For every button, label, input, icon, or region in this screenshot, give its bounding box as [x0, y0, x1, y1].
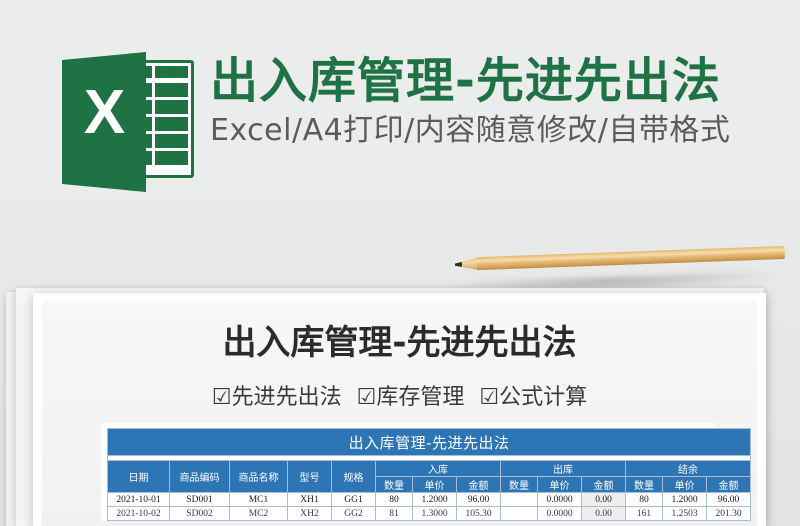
excel-card-shape: X [62, 52, 146, 192]
banner-content: X 出入库管理-先进先出法 Excel/A4打印/内容随意修改/自带格式 [62, 52, 730, 192]
col-group-header-outbound[interactable]: 出库 [501, 461, 626, 477]
document-feature-list: ☑先进先出法 ☑库存管理 ☑公式计算 [33, 379, 766, 411]
cell-out-qty[interactable] [501, 493, 538, 507]
cell-out-amount[interactable]: 0.00 [582, 493, 626, 507]
col-header-out-price[interactable]: 单价 [538, 477, 582, 493]
cell-in-price[interactable]: 1.3000 [413, 507, 457, 521]
cell-date[interactable]: 2021-10-01 [108, 493, 170, 507]
excel-logo-letter: X [62, 82, 146, 144]
table-banner-title: 出入库管理-先进先出法 [108, 429, 751, 456]
paper-sheet-front: 出入库管理-先进先出法 ☑先进先出法 ☑库存管理 ☑公式计算 出入库管理-先进先… [33, 293, 766, 526]
table-group-header-row: 日期 商品编码 商品名称 型号 规格 入库 出库 结余 [108, 461, 751, 477]
cell-name[interactable]: MC1 [230, 493, 288, 507]
col-header-model[interactable]: 型号 [288, 461, 332, 493]
cell-bal-amount[interactable]: 201.30 [707, 507, 751, 521]
cell-in-amount[interactable]: 105.30 [457, 507, 501, 521]
cell-date[interactable]: 2021-10-02 [108, 507, 170, 521]
promo-banner: X 出入库管理-先进先出法 Excel/A4打印/内容随意修改/自带格式 [0, 0, 800, 200]
banner-subtitle: Excel/A4打印/内容随意修改/自带格式 [210, 111, 730, 150]
cell-code[interactable]: SD002 [170, 507, 230, 521]
cell-model[interactable]: XH2 [288, 507, 332, 521]
col-header-bal-qty[interactable]: 数量 [626, 477, 663, 493]
cell-bal-price[interactable]: 1.2503 [663, 507, 707, 521]
cell-bal-price[interactable]: 1.2000 [663, 493, 707, 507]
cell-bal-qty[interactable]: 161 [626, 507, 663, 521]
col-header-out-qty[interactable]: 数量 [501, 477, 538, 493]
table-banner-row: 出入库管理-先进先出法 [108, 429, 751, 456]
col-group-header-balance[interactable]: 结余 [626, 461, 751, 477]
col-header-date[interactable]: 日期 [108, 461, 170, 493]
cell-in-qty[interactable]: 80 [376, 493, 413, 507]
cell-in-qty[interactable]: 81 [376, 507, 413, 521]
cell-bal-qty[interactable]: 80 [626, 493, 663, 507]
document-title: 出入库管理-先进先出法 [33, 315, 766, 364]
col-header-bal-amount[interactable]: 金额 [707, 477, 751, 493]
banner-text-block: 出入库管理-先进先出法 Excel/A4打印/内容随意修改/自带格式 [210, 52, 730, 150]
col-header-in-price[interactable]: 单价 [413, 477, 457, 493]
table-row[interactable]: 2021-10-02 SD002 MC2 XH2 GG2 81 1.3000 1… [108, 507, 751, 521]
cell-spec[interactable]: GG1 [332, 493, 376, 507]
col-header-spec[interactable]: 规格 [332, 461, 376, 493]
col-header-code[interactable]: 商品编码 [170, 461, 230, 493]
table-row[interactable]: 2021-10-01 SD001 MC1 XH1 GG1 80 1.2000 9… [108, 493, 751, 507]
cell-bal-amount[interactable]: 96.00 [707, 493, 751, 507]
feature-item-formula: ☑公式计算 [479, 385, 587, 410]
inventory-table[interactable]: 出入库管理-先进先出法 日期 商品编码 商品名称 型号 规格 入库 出库 结余 … [107, 428, 751, 521]
feature-item-fifo: ☑先进先出法 [212, 385, 342, 410]
col-header-name[interactable]: 商品名称 [230, 461, 288, 493]
col-header-bal-price[interactable]: 单价 [663, 477, 707, 493]
col-group-header-inbound[interactable]: 入库 [376, 461, 501, 477]
cell-spec[interactable]: GG2 [332, 507, 376, 521]
cell-name[interactable]: MC2 [230, 507, 288, 521]
col-header-in-amount[interactable]: 金额 [457, 477, 501, 493]
cell-out-qty[interactable] [501, 507, 538, 521]
spreadsheet-table-container[interactable]: 出入库管理-先进先出法 日期 商品编码 商品名称 型号 规格 入库 出库 结余 … [101, 423, 716, 521]
col-header-out-amount[interactable]: 金额 [582, 477, 626, 493]
cell-out-price[interactable]: 0.0000 [538, 493, 582, 507]
feature-item-inventory: ☑库存管理 [357, 385, 465, 410]
col-header-in-qty[interactable]: 数量 [376, 477, 413, 493]
excel-logo-icon: X [62, 52, 194, 192]
cell-out-price[interactable]: 0.0000 [538, 507, 582, 521]
cell-in-price[interactable]: 1.2000 [413, 493, 457, 507]
cell-code[interactable]: SD001 [170, 493, 230, 507]
banner-title: 出入库管理-先进先出法 [210, 54, 730, 109]
cell-in-amount[interactable]: 96.00 [457, 493, 501, 507]
cell-out-amount[interactable]: 0.00 [582, 507, 626, 521]
cell-model[interactable]: XH1 [288, 493, 332, 507]
